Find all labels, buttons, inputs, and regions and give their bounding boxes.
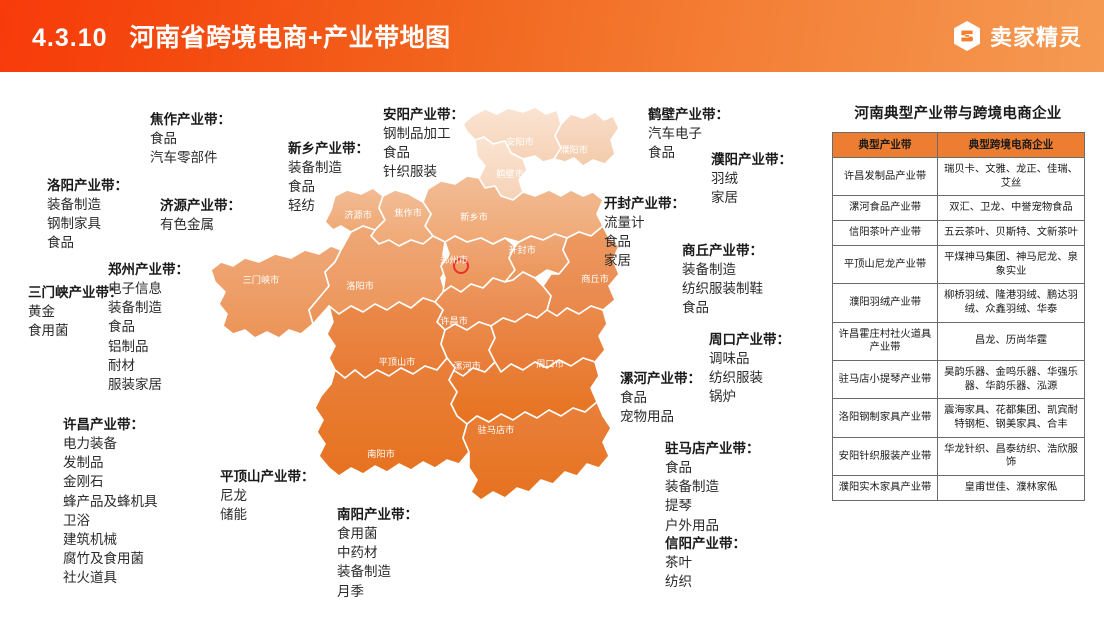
table-body: 许昌发制品产业带瑞贝卡、文雅、龙正、佳瑞、艾丝漯河食品产业带双汇、卫龙、中誉宠物… [833, 158, 1085, 501]
label-block-luoyang: 洛阳产业带：装备制造钢制家具食品 [47, 176, 128, 253]
label-item-kaifeng: 食品 [604, 232, 685, 251]
label-item-anyang: 钢制品加工 [383, 124, 464, 143]
label-block-zhoukou: 周口产业带：调味品纺织服装锅炉 [709, 330, 790, 407]
label-item-jiaozuo: 汽车零部件 [150, 148, 231, 167]
label-item-xuchang: 卫浴 [63, 511, 158, 530]
label-item-zhengzhou: 耐材 [108, 356, 189, 375]
label-item-zhoukou: 锅炉 [709, 387, 790, 406]
label-item-zhumadian: 提琴 [665, 496, 760, 515]
table-row: 许昌发制品产业带瑞贝卡、文雅、龙正、佳瑞、艾丝 [833, 158, 1085, 196]
label-item-zhengzhou: 电子信息 [108, 279, 189, 298]
label-title-xuchang: 许昌产业带： [63, 415, 158, 434]
label-item-hebi: 汽车电子 [648, 124, 729, 143]
label-block-anyang: 安阳产业带：钢制品加工食品针织服装 [383, 105, 464, 182]
label-item-zhumadian: 户外用品 [665, 516, 760, 535]
label-item-puyang: 家居 [711, 188, 792, 207]
label-title-zhengzhou: 郑州产业带： [108, 260, 189, 279]
table-header-row: 典型产业带 典型跨境电商企业 [833, 133, 1085, 158]
label-item-shangqiu: 食品 [682, 298, 763, 317]
brand-name: 卖家精灵 [990, 20, 1082, 52]
cell-enterprises: 双汇、卫龙、中誉宠物食品 [938, 196, 1085, 221]
cell-enterprises: 瑞贝卡、文雅、龙正、佳瑞、艾丝 [938, 158, 1085, 196]
label-item-zhengzhou: 服装家居 [108, 375, 189, 394]
label-item-nanyang: 中药材 [337, 543, 418, 562]
label-block-kaifeng: 开封产业带：流量计食品家居 [604, 194, 685, 271]
label-item-kaifeng: 家居 [604, 251, 685, 270]
label-item-xuchang: 金刚石 [63, 472, 158, 491]
label-block-pingdingshan: 平顶山产业带：尼龙储能 [220, 467, 315, 524]
industry-enterprise-table-panel: 河南典型产业带与跨境电商企业 典型产业带 典型跨境电商企业 许昌发制品产业带瑞贝… [832, 102, 1084, 501]
label-title-xinyang: 信阳产业带： [665, 534, 746, 553]
cell-enterprises: 华龙针织、昌泰纺织、浩欣服饰 [938, 437, 1085, 475]
label-block-xuchang: 许昌产业带：电力装备发制品金刚石蜂产品及蜂机具卫浴建筑机械腐竹及食用菌社火道具 [63, 415, 158, 587]
cell-industry-belt: 安阳针织服装产业带 [833, 437, 938, 475]
label-item-xinyang: 纺织 [665, 572, 746, 591]
label-item-jiaozuo: 食品 [150, 129, 231, 148]
label-item-xuchang: 社火道具 [63, 568, 158, 587]
label-block-xinyang: 信阳产业带：茶叶纺织 [665, 534, 746, 591]
cell-industry-belt: 驻马店小提琴产业带 [833, 360, 938, 398]
label-block-zhumadian: 驻马店产业带：食品装备制造提琴户外用品 [665, 439, 760, 535]
label-item-luoyang: 钢制家具 [47, 214, 128, 233]
cell-enterprises: 五云茶叶、贝斯特、文新茶叶 [938, 221, 1085, 246]
label-title-luoyang: 洛阳产业带： [47, 176, 128, 195]
cell-enterprises: 皇甫世佳、濮林家俬 [938, 476, 1085, 501]
col-header-enterprises: 典型跨境电商企业 [938, 133, 1085, 158]
hexagon-s-logo-icon [952, 20, 982, 52]
table-caption: 河南典型产业带与跨境电商企业 [832, 102, 1084, 123]
label-item-nanyang: 食用菌 [337, 524, 418, 543]
label-item-anyang: 针织服装 [383, 162, 464, 181]
table-row: 平顶山尼龙产业带平煤神马集团、神马尼龙、泉象实业 [833, 245, 1085, 283]
region-sanmenxia [211, 246, 341, 338]
label-item-xinyang: 茶叶 [665, 553, 746, 572]
label-title-anyang: 安阳产业带： [383, 105, 464, 124]
region-pingdingshan [327, 298, 447, 378]
label-item-zhengzhou: 装备制造 [108, 298, 189, 317]
label-title-luohe: 漯河产业带： [620, 369, 701, 388]
label-item-luohe: 宠物用品 [620, 407, 701, 426]
table-row: 漯河食品产业带双汇、卫龙、中誉宠物食品 [833, 196, 1085, 221]
label-block-nanyang: 南阳产业带：食用菌中药材装备制造月季 [337, 505, 418, 601]
label-item-puyang: 羽绒 [711, 169, 792, 188]
label-item-anyang: 食品 [383, 143, 464, 162]
table-row: 安阳针织服装产业带华龙针织、昌泰纺织、浩欣服饰 [833, 437, 1085, 475]
label-title-zhumadian: 驻马店产业带： [665, 439, 760, 458]
label-title-xinxiang: 新乡产业带： [288, 139, 369, 158]
label-item-zhengzhou: 铝制品 [108, 337, 189, 356]
label-item-pingdingshan: 储能 [220, 505, 315, 524]
cell-industry-belt: 洛阳钢制家具产业带 [833, 399, 938, 437]
label-item-luohe: 食品 [620, 388, 701, 407]
page-title: 4.3.10河南省跨境电商+产业带地图 [32, 18, 451, 54]
label-item-xuchang: 电力装备 [63, 434, 158, 453]
label-item-xuchang: 发制品 [63, 453, 158, 472]
label-title-shangqiu: 商丘产业带： [682, 241, 763, 260]
label-item-zhengzhou: 食品 [108, 317, 189, 336]
label-item-xuchang: 建筑机械 [63, 530, 158, 549]
label-item-nanyang: 月季 [337, 582, 418, 601]
region-nanyang [315, 358, 469, 476]
table-row: 濮阳实木家具产业带皇甫世佳、濮林家俬 [833, 476, 1085, 501]
label-item-jiyuan: 有色金属 [160, 215, 241, 234]
label-block-zhengzhou: 郑州产业带：电子信息装备制造食品铝制品耐材服装家居 [108, 260, 189, 394]
cell-enterprises: 昌龙、历尚华霆 [938, 322, 1085, 360]
cell-industry-belt: 许昌霍庄村社火道具产业带 [833, 322, 938, 360]
label-item-zhumadian: 食品 [665, 458, 760, 477]
label-item-luoyang: 食品 [47, 233, 128, 252]
label-item-luoyang: 装备制造 [47, 195, 128, 214]
cell-industry-belt: 信阳茶叶产业带 [833, 221, 938, 246]
label-item-xinxiang: 食品 [288, 177, 369, 196]
table-row: 驻马店小提琴产业带昊韵乐器、金鸣乐器、华强乐器、华韵乐器、泓源 [833, 360, 1085, 398]
label-title-puyang: 濮阳产业带： [711, 150, 792, 169]
page-title-text: 河南省跨境电商+产业带地图 [130, 24, 451, 52]
col-header-industry-belt: 典型产业带 [833, 133, 938, 158]
label-title-jiaozuo: 焦作产业带： [150, 110, 231, 129]
label-item-zhoukou: 调味品 [709, 349, 790, 368]
label-item-shangqiu: 纺织服装制鞋 [682, 279, 763, 298]
cell-enterprises: 柳桥羽绒、隆港羽绒、鹏达羽绒、众鑫羽绒、华泰 [938, 284, 1085, 322]
page-header: 4.3.10河南省跨境电商+产业带地图 卖家精灵 [0, 0, 1104, 72]
table-row: 信阳茶叶产业带五云茶叶、贝斯特、文新茶叶 [833, 221, 1085, 246]
label-title-jiyuan: 济源产业带： [160, 196, 241, 215]
label-item-kaifeng: 流量计 [604, 213, 685, 232]
cell-industry-belt: 许昌发制品产业带 [833, 158, 938, 196]
table-row: 洛阳钢制家具产业带震海家具、花都集团、凯宾耐特钢柜、钢美家具、合丰 [833, 399, 1085, 437]
label-item-xuchang: 蜂产品及蜂机具 [63, 492, 158, 511]
cell-enterprises: 平煤神马集团、神马尼龙、泉象实业 [938, 245, 1085, 283]
page-title-number: 4.3.10 [32, 24, 108, 52]
label-item-zhumadian: 装备制造 [665, 477, 760, 496]
label-block-luohe: 漯河产业带：食品宠物用品 [620, 369, 701, 426]
label-item-xinxiang: 轻纺 [288, 196, 369, 215]
label-block-puyang: 濮阳产业带：羽绒家居 [711, 150, 792, 207]
cell-enterprises: 昊韵乐器、金鸣乐器、华强乐器、华韵乐器、泓源 [938, 360, 1085, 398]
table-head: 典型产业带 典型跨境电商企业 [833, 133, 1085, 158]
cell-industry-belt: 漯河食品产业带 [833, 196, 938, 221]
cell-industry-belt: 平顶山尼龙产业带 [833, 245, 938, 283]
label-block-jiyuan: 济源产业带：有色金属 [160, 196, 241, 234]
label-item-zhoukou: 纺织服装 [709, 368, 790, 387]
cell-enterprises: 震海家具、花都集团、凯宾耐特钢柜、钢美家具、合丰 [938, 399, 1085, 437]
brand-logo: 卖家精灵 [952, 20, 1082, 52]
label-block-jiaozuo: 焦作产业带：食品汽车零部件 [150, 110, 231, 167]
cell-industry-belt: 濮阳羽绒产业带 [833, 284, 938, 322]
table-row: 许昌霍庄村社火道具产业带昌龙、历尚华霆 [833, 322, 1085, 360]
table-row: 濮阳羽绒产业带柳桥羽绒、隆港羽绒、鹏达羽绒、众鑫羽绒、华泰 [833, 284, 1085, 322]
slide-page: 4.3.10河南省跨境电商+产业带地图 卖家精灵 [0, 0, 1104, 618]
label-title-kaifeng: 开封产业带： [604, 194, 685, 213]
industry-enterprise-table: 典型产业带 典型跨境电商企业 许昌发制品产业带瑞贝卡、文雅、龙正、佳瑞、艾丝漯河… [832, 132, 1085, 501]
label-item-xinxiang: 装备制造 [288, 158, 369, 177]
label-block-xinxiang: 新乡产业带：装备制造食品轻纺 [288, 139, 369, 216]
label-item-nanyang: 装备制造 [337, 562, 418, 581]
cell-industry-belt: 濮阳实木家具产业带 [833, 476, 938, 501]
label-title-zhoukou: 周口产业带： [709, 330, 790, 349]
label-title-pingdingshan: 平顶山产业带： [220, 467, 315, 486]
region-puyang [554, 112, 619, 166]
label-item-pingdingshan: 尼龙 [220, 486, 315, 505]
label-item-shangqiu: 装备制造 [682, 260, 763, 279]
label-item-xuchang: 腐竹及食用菌 [63, 549, 158, 568]
label-title-nanyang: 南阳产业带： [337, 505, 418, 524]
label-title-hebi: 鹤壁产业带： [648, 105, 729, 124]
label-block-shangqiu: 商丘产业带：装备制造纺织服装制鞋食品 [682, 241, 763, 318]
